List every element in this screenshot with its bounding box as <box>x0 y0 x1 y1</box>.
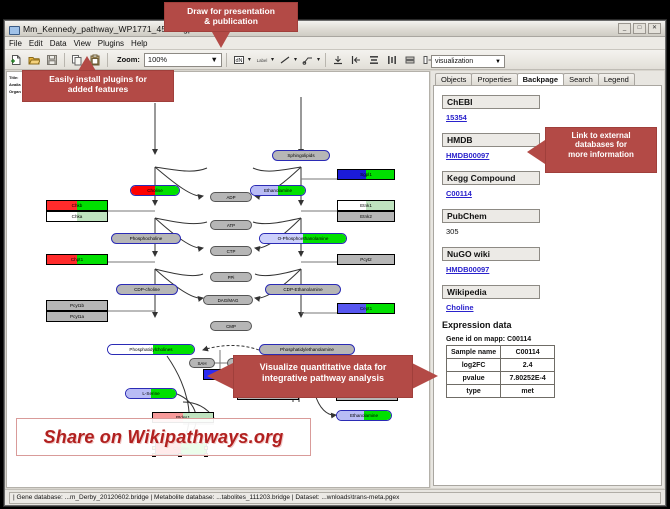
node-label: Phosphocholine <box>130 236 163 241</box>
distribute-vertical-icon[interactable] <box>366 52 382 68</box>
gene-node-chkb[interactable]: Chkb <box>46 200 108 211</box>
small-node-ppi[interactable]: PPi <box>210 272 252 282</box>
callout-visualize: Visualize quantitative data for integrat… <box>233 355 413 398</box>
row-key: Sample name <box>447 346 501 359</box>
save-icon[interactable] <box>44 52 60 68</box>
tab-backpage[interactable]: Backpage <box>517 73 564 85</box>
db-header-kegg: Kegg Compound <box>442 171 540 185</box>
callout-line: integrative pathway analysis <box>234 373 412 384</box>
align-left-icon[interactable] <box>348 52 364 68</box>
menu-item-data[interactable]: Data <box>50 39 67 48</box>
expression-data-table: Sample name C00114 log2FC 2.4 pvalue 7.8… <box>446 345 555 398</box>
metabolite-node-phosphatidylcholines[interactable]: Phosphatidylcholines <box>107 344 195 355</box>
zoom-label: Zoom: <box>117 55 140 64</box>
callout-line: Link to external <box>546 131 656 140</box>
node-label: CTP <box>227 249 236 254</box>
node-label: L-Serine <box>142 391 159 396</box>
db-link-wikipedia[interactable]: Choline <box>446 303 653 312</box>
metabolite-node-phosphocholine[interactable]: Phosphocholine <box>111 233 181 244</box>
db-link-nugowiki[interactable]: HMDB00097 <box>446 265 653 274</box>
chevron-down-icon-line[interactable]: ▾ <box>294 56 297 63</box>
callout-visualize-arrow-right <box>412 363 438 389</box>
callout-line: Visualize quantitative data for <box>234 362 412 373</box>
gene-node-pcyt1a[interactable]: Pcyt1a <box>46 311 108 322</box>
app-icon <box>9 24 19 34</box>
small-node-ctp[interactable]: CTP <box>210 246 252 256</box>
close-button[interactable]: ✕ <box>648 23 661 34</box>
metabolite-node-cdp-choline[interactable]: CDP-choline <box>116 284 178 295</box>
callout-line: databases for <box>546 140 656 149</box>
line-icon[interactable] <box>277 52 293 68</box>
node-label: Etnk2 <box>360 214 372 219</box>
node-label: ATP <box>227 223 235 228</box>
row-value: 7.80252E-4 <box>501 372 555 385</box>
db-header-chebi: ChEBI <box>442 95 540 109</box>
menu-bar: File Edit Data View Plugins Help <box>5 37 665 50</box>
new-file-icon[interactable] <box>8 52 24 68</box>
node-label: DAG/MAG <box>218 298 239 303</box>
menu-item-help[interactable]: Help <box>131 39 147 48</box>
row-key: log2FC <box>447 359 501 372</box>
node-label: Ethanolamine <box>350 413 378 418</box>
table-row: log2FC 2.4 <box>447 359 555 372</box>
share-banner: Share on Wikipathways.org <box>16 418 311 456</box>
db-link-chebi[interactable]: 15354 <box>446 113 653 122</box>
gene-node-chka[interactable]: Chka <box>46 211 108 222</box>
screenshot-root: Mm_Kennedy_pathway_WP1771_45176.gpml _ □… <box>0 0 670 509</box>
db-value-pubchem: 305 <box>446 227 653 236</box>
svg-text:dN: dN <box>235 58 242 64</box>
gene-node-etnk2[interactable]: Etnk2 <box>337 211 395 222</box>
node-label: Chkb <box>72 203 83 208</box>
tab-legend[interactable]: Legend <box>598 73 635 85</box>
callout-visualize-arrow-left <box>207 363 233 389</box>
gene-node-etnk1[interactable]: Etnk1 <box>337 200 395 211</box>
tool-bar: Zoom: 100% ▼ dN ▾ Label ▾ ▾ ▾ <box>5 50 665 70</box>
title-bar: Mm_Kennedy_pathway_WP1771_45176.gpml _ □… <box>5 21 665 37</box>
node-label: Pcyt1b <box>70 303 84 308</box>
row-value: C00114 <box>501 346 555 359</box>
gene-node-pcyt1b[interactable]: Pcyt1b <box>46 300 108 311</box>
node-label: Ethanolamine <box>264 188 292 193</box>
visualization-combobox[interactable]: visualization ▼ <box>431 55 505 68</box>
status-text: | Gene database: ...m_Derby_20120602.bri… <box>9 492 661 504</box>
menu-item-view[interactable]: View <box>74 39 91 48</box>
label-icon[interactable]: Label <box>254 52 270 68</box>
node-label: Sphingolipids <box>287 153 314 158</box>
node-label: ADP <box>226 195 235 200</box>
db-header-hmdb: HMDB <box>442 133 540 147</box>
node-label: Chpt1 <box>71 257 83 262</box>
tab-properties[interactable]: Properties <box>471 73 517 85</box>
small-node-dag-mag[interactable]: DAG/MAG <box>203 295 253 305</box>
window-controls: _ □ ✕ <box>618 23 661 34</box>
toolbar-separator-3 <box>226 53 227 67</box>
callout-line: added features <box>23 84 173 94</box>
callout-plugins: Easily install plugins for added feature… <box>22 70 174 102</box>
visualization-value: visualization <box>435 58 473 65</box>
menu-item-file[interactable]: File <box>9 39 22 48</box>
node-label: Pcyt2 <box>360 257 372 262</box>
align-top-icon[interactable] <box>330 52 346 68</box>
metabolite-node-o-phosphoethanolamine[interactable]: O-Phosphoethanolamine <box>259 233 347 244</box>
db-header-wikipedia: Wikipedia <box>442 285 540 299</box>
node-label: Cept1 <box>360 306 372 311</box>
data-node-icon[interactable]: dN <box>231 52 247 68</box>
chevron-down-icon-visualization: ▼ <box>495 59 501 65</box>
callout-link: Link to external databases for more info… <box>545 127 657 173</box>
gene-node-cept1[interactable]: Cept1 <box>337 303 395 314</box>
expression-data-title: Expression data <box>442 320 653 330</box>
node-label: Choline <box>147 188 163 193</box>
callout-line: & publication <box>165 16 297 26</box>
node-label: CDP-choline <box>134 287 160 292</box>
metabolite-node-phosphatidylethanolamine[interactable]: Phosphatidylethanolamine <box>259 344 355 355</box>
row-key: type <box>447 385 501 398</box>
distribute-horizontal-icon[interactable] <box>384 52 400 68</box>
chevron-down-icon-label[interactable]: ▾ <box>271 56 274 63</box>
row-value: met <box>501 385 555 398</box>
gene-id-label: Gene id on mapp: C00114 <box>446 336 653 343</box>
metabolite-node-l-serine-left[interactable]: L-Serine <box>125 388 177 399</box>
db-header-pubchem: PubChem <box>442 209 540 223</box>
metabolite-node-cdp-ethanolamine[interactable]: CDP-Ethanolamine <box>265 284 341 295</box>
table-row: Sample name C00114 <box>447 346 555 359</box>
tab-search[interactable]: Search <box>563 73 599 85</box>
callout-line: Draw for presentation <box>165 6 297 16</box>
node-label: SAH <box>197 361 206 366</box>
node-label: Sgpl1 <box>360 172 372 177</box>
chevron-down-icon: ▼ <box>210 55 217 64</box>
node-label: Chka <box>72 214 83 219</box>
toolbar-separator-2 <box>107 53 108 67</box>
table-row: type met <box>447 385 555 398</box>
chevron-down-icon-interaction[interactable]: ▾ <box>317 56 320 63</box>
db-link-kegg[interactable]: C00114 <box>446 189 653 198</box>
zoom-combobox[interactable]: 100% ▼ <box>144 53 222 67</box>
callout-line: Easily install plugins for <box>23 74 173 84</box>
toolbar-separator-4 <box>325 53 326 67</box>
metabolite-node-choline[interactable]: Choline <box>130 185 180 196</box>
small-node-adp[interactable]: ADP <box>210 192 252 202</box>
db-header-nugowiki: NuGO wiki <box>442 247 540 261</box>
gene-node-pcyt2[interactable]: Pcyt2 <box>337 254 395 265</box>
table-row: pvalue 7.80252E-4 <box>447 372 555 385</box>
node-label: CMP <box>226 324 236 329</box>
side-panel-tabs: Objects Properties Backpage Search Legen… <box>431 71 664 85</box>
node-label: PPi <box>228 275 235 280</box>
menu-item-edit[interactable]: Edit <box>29 39 43 48</box>
share-banner-text: Share on Wikipathways.org <box>44 427 284 448</box>
metabolite-node-ethanolamine-top[interactable]: Ethanolamine <box>250 185 306 196</box>
status-bar: | Gene database: ...m_Derby_20120602.bri… <box>5 489 665 505</box>
zoom-value: 100% <box>148 55 167 64</box>
node-label: CDP-Ethanolamine <box>283 287 322 292</box>
small-node-atp[interactable]: ATP <box>210 220 252 230</box>
menu-item-plugins[interactable]: Plugins <box>98 39 124 48</box>
row-value: 2.4 <box>501 359 555 372</box>
stack-icon[interactable] <box>402 52 418 68</box>
tab-objects[interactable]: Objects <box>435 73 472 85</box>
svg-text:Label: Label <box>257 58 268 63</box>
toolbar-separator <box>64 53 65 67</box>
open-folder-icon[interactable] <box>26 52 42 68</box>
node-label: Pcyt1a <box>70 314 84 319</box>
maximize-button[interactable]: □ <box>633 23 646 34</box>
node-label: O-Phosphoethanolamine <box>278 236 329 241</box>
gene-node-chpt1[interactable]: Chpt1 <box>46 254 108 265</box>
small-node-cmp[interactable]: CMP <box>210 321 252 331</box>
minimize-button[interactable]: _ <box>618 23 631 34</box>
gene-node-sgpl1[interactable]: Sgpl1 <box>337 169 395 180</box>
metabolite-node-ethanolamine-bottom[interactable]: Ethanolamine <box>336 410 392 421</box>
callout-line: more information <box>546 150 656 159</box>
row-key: pvalue <box>447 372 501 385</box>
node-label: Etnk1 <box>360 203 372 208</box>
callout-draw: Draw for presentation & publication <box>164 2 298 32</box>
chevron-down-icon-datanode[interactable]: ▾ <box>248 56 251 63</box>
interaction-icon[interactable] <box>300 52 316 68</box>
node-label: Phosphatidylcholines <box>129 347 172 352</box>
node-label: Phosphatidylethanolamine <box>280 347 334 352</box>
metabolite-node-sphingolipids[interactable]: Sphingolipids <box>272 150 330 161</box>
